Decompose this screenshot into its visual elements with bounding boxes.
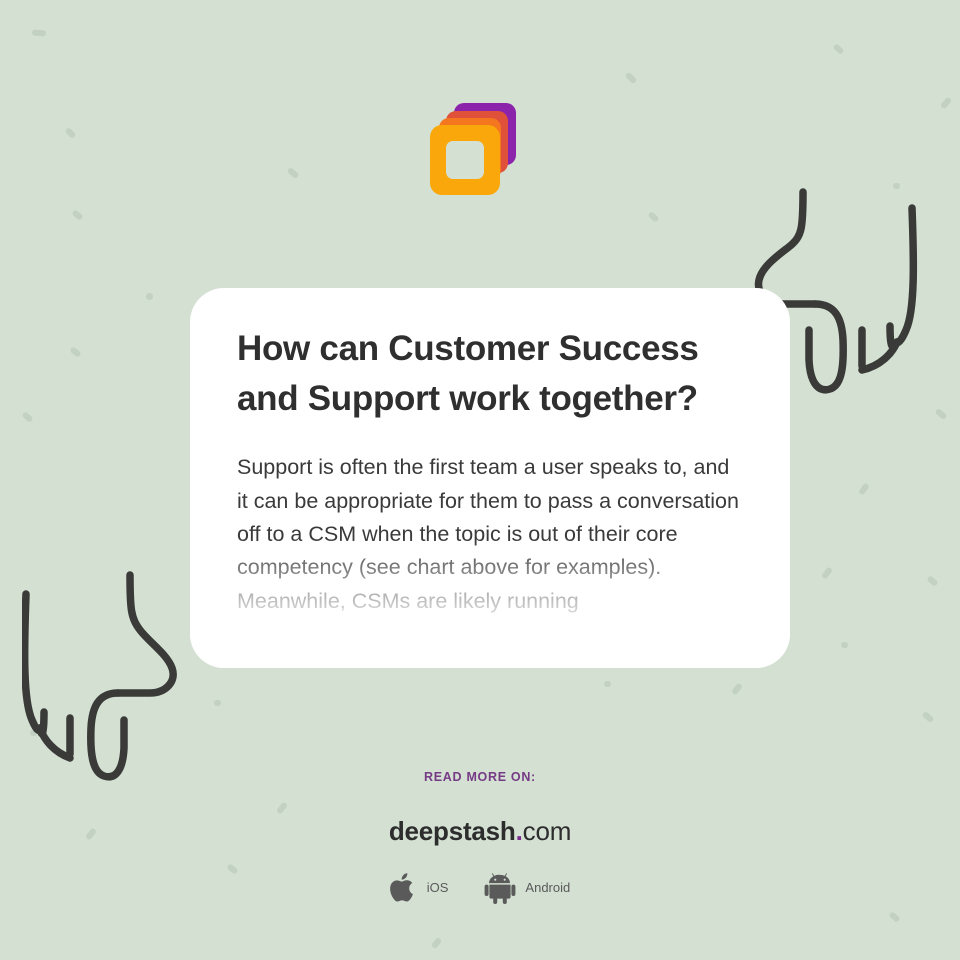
card-body-text: Support is often the first team a user s… [237,451,744,618]
ios-store-badge[interactable]: iOS [390,871,449,904]
content-card[interactable]: How can Customer Success and Support wor… [190,288,790,668]
background-speck [832,43,844,55]
android-icon [484,871,516,904]
brand-name: deepstash [389,816,516,846]
brand-tld: com [523,816,572,846]
background-speck [647,211,659,223]
background-speck [71,209,83,221]
read-more-label: READ MORE ON: [0,770,960,784]
background-speck [841,642,848,648]
brand-wordmark[interactable]: deepstash.com [0,816,960,847]
deepstash-logo[interactable] [430,103,516,195]
brand-dot: . [516,816,523,846]
background-speck [286,167,299,179]
pointing-hand-icon-left [22,560,207,785]
app-store-badges: iOS Android [0,871,960,904]
apple-icon [390,871,418,904]
background-speck [604,681,611,687]
background-speck [926,575,938,587]
background-speck [69,346,81,358]
logo-center-cutout [446,141,484,179]
background-speck [32,30,46,37]
background-speck [858,482,870,495]
background-speck [625,72,638,85]
background-speck [893,183,900,189]
background-speck [65,127,77,139]
background-speck [731,682,743,695]
background-speck [934,408,947,420]
android-store-badge[interactable]: Android [484,871,570,904]
background-speck [431,937,443,949]
background-speck [888,911,900,923]
background-speck [940,96,952,109]
card-title: How can Customer Success and Support wor… [237,324,744,423]
card-inner: How can Customer Success and Support wor… [190,288,790,618]
ios-store-label: iOS [427,880,449,895]
background-speck [21,411,33,423]
background-speck [30,730,37,736]
background-speck [214,700,221,706]
android-store-label: Android [525,880,570,895]
background-speck [821,566,833,579]
background-speck [146,293,153,300]
background-speck [921,711,934,723]
footer: READ MORE ON: deepstash.com iOS [0,770,960,904]
